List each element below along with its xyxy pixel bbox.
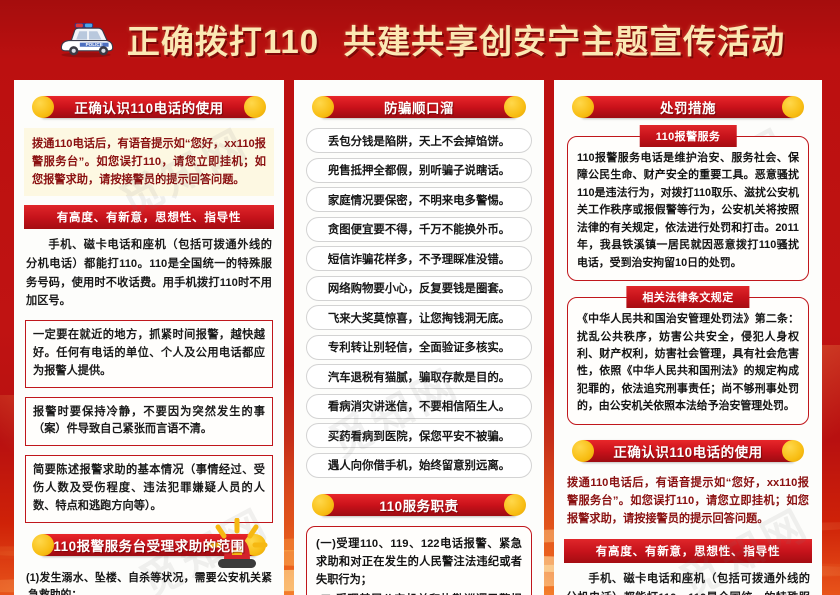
banner-dot-left: [32, 96, 54, 118]
tab-title: 110报警服务: [640, 125, 737, 147]
alarm-service-tabbox: 110报警服务 110报警服务电话是维护治安、服务社会、保障公民生命、财产安全的…: [567, 136, 809, 281]
list-item: 家庭情况要保密，不明来电多警惕。: [306, 187, 532, 212]
svg-text:POLICE: POLICE: [85, 42, 102, 47]
tabbox-body: 《中华人民共和国治安管理处罚法》第二条：扰乱公共秩序，妨害公共安全，侵犯人身权利…: [567, 297, 809, 425]
left-column: 觅知网 觅知网 正确认识110电话的使用 拨通110电话后，有语音提示如“您好，…: [14, 80, 284, 595]
poster-title-sub: 共建共享创安宁主题宣传活动: [343, 15, 785, 63]
list-item: 贪图便宜要不得，千万不能换外币。: [306, 217, 532, 242]
right-note-box: 拨通110电话后，有语音提示如“您好，xx110报警服务台”。如您误打110，请…: [564, 472, 812, 530]
duties-box: (一)受理110、119、122电话报警、紧急求助和对正在发生的人民警注法违纪或…: [306, 526, 532, 595]
middle-section1-title: 防骗顺口溜: [384, 97, 454, 117]
list-item: 网络购物要小心，反复要钱是圈套。: [306, 276, 532, 301]
tabbox-body: 110报警服务电话是维护治安、服务社会、保障公民生命、财产安全的重要工具。恶意骚…: [567, 136, 809, 281]
duty-item: (二)受理基层公安机关和执勤巡逻民警报告的紧急情况及各类案件、事故。: [316, 591, 522, 595]
right-section1-banner: 处罚措施: [566, 94, 810, 120]
right-subtitle-strip: 有高度、有新意，思想性、指导性: [564, 539, 812, 563]
banner-dot-left: [32, 534, 54, 556]
tabbox-text: 《中华人民共和国治安管理处罚法》第二条：扰乱公共秩序，妨害公共安全，侵犯人身权利…: [577, 311, 799, 416]
list-item: 专利转让别轻信，全面验证多核实。: [306, 335, 532, 360]
left-section2-title: 110报警服务台受理求助的范围: [53, 535, 244, 555]
banner-dot-left: [572, 96, 594, 118]
anti-fraud-rhyme-list: 丢包分钱是陷阱，天上不会掉馅饼。 兜售抵押全都假，别听骗子说瞎话。 家庭情况要保…: [304, 128, 534, 478]
list-item: 遇人向你借手机，始终留意别远离。: [306, 453, 532, 478]
list-item: 丢包分钱是陷阱，天上不会掉馅饼。: [306, 128, 532, 153]
banner-dot-right: [504, 494, 526, 516]
left-note-box: 拨通110电话后，有语音提示如“您好，xx110报警服务台”。如您误打110，请…: [24, 128, 274, 196]
legal-provisions-tabbox: 相关法律条文规定 《中华人民共和国治安管理处罚法》第二条：扰乱公共秩序，妨害公共…: [567, 297, 809, 425]
middle-section1-banner: 防骗顺口溜: [306, 94, 532, 120]
right-paragraph: 手机、磁卡电话和座机（包括可拨通外线的分机电话）都能打110。110是全国统一的…: [564, 570, 812, 595]
poster-canvas: POLICE 正确拨打110 共建共享创安宁主题宣传活动 觅知网 觅知网 正确认…: [0, 0, 840, 595]
list-item: 买药看病到医院，保您平安不被骗。: [306, 423, 532, 448]
left-emphasis-box-2: 报警时要保持冷静，不要因为突然发生的事（案）件导致自己紧张而言语不清。: [25, 397, 273, 447]
middle-section2-banner: 110服务职责: [306, 492, 532, 518]
banner-dot-right: [782, 96, 804, 118]
tab-title: 相关法律条文规定: [626, 286, 749, 308]
left-paragraph: 手机、磁卡电话和座机（包括可拨通外线的分机电话）都能打110。110是全国统一的…: [24, 236, 274, 310]
left-emphasis-box-1: 一定要在就近的地方，抓紧时间报警，越快越好。任何有电话的单位、个人及公用电话都应…: [25, 320, 273, 388]
left-section2-banner: 110报警服务台受理求助的范围: [26, 532, 272, 558]
list-item: 飞来大奖莫惊喜，让您掏钱洞无底。: [306, 305, 532, 330]
left-section1-title: 正确认识110电话的使用: [74, 97, 223, 117]
banner-dot-left: [572, 440, 594, 462]
content-columns: 觅知网 觅知网 正确认识110电话的使用 拨通110电话后，有语音提示如“您好，…: [0, 80, 840, 595]
banner-dot-right: [244, 96, 266, 118]
poster-header: POLICE 正确拨打110 共建共享创安宁主题宣传活动: [0, 0, 840, 78]
right-section1-title: 处罚措施: [660, 97, 716, 117]
banner-dot-left: [312, 96, 334, 118]
left-emphasis-box-3: 简要陈述报警求助的基本情况（事情经过、受伤人数及受伤程度、违法犯罪嫌疑人员的人数…: [25, 455, 273, 523]
middle-section2-title: 110服务职责: [379, 495, 458, 515]
list-item: 兜售抵押全都假，别听骗子说瞎话。: [306, 158, 532, 183]
left-subtitle-strip: 有高度、有新意，思想性、指导性: [24, 205, 274, 229]
banner-dot-left: [312, 494, 334, 516]
banner-dot-right: [782, 440, 804, 462]
right-section2-banner: 正确认识110电话的使用: [566, 438, 810, 464]
police-car-icon: POLICE: [55, 19, 117, 59]
left-section1-banner: 正确认识110电话的使用: [26, 94, 272, 120]
banner-dot-right: [504, 96, 526, 118]
list-item: 看病消灾讲迷信，不要相信陌生人。: [306, 394, 532, 419]
duty-item: (一)受理110、119、122电话报警、紧急求助和对正在发生的人民警注法违纪或…: [316, 535, 522, 589]
right-section2-title: 正确认识110电话的使用: [613, 441, 762, 461]
list-item: 汽车退税有猫腻，骗取存款是目的。: [306, 364, 532, 389]
right-column: 觅知网 觅知网 处罚措施 110报警服务 110报警服务电话是维护治安、服务社会…: [554, 80, 822, 595]
tabbox-text: 110报警服务电话是维护治安、服务社会、保障公民生命、财产安全的重要工具。恶意骚…: [577, 150, 799, 272]
poster-title-main: 正确拨打110: [127, 15, 319, 63]
middle-column: 觅知网 防骗顺口溜 丢包分钱是陷阱，天上不会掉馅饼。 兜售抵押全都假，别听骗子说…: [294, 80, 544, 595]
list-item: 短信诈骗花样多，不予理睬准没错。: [306, 246, 532, 271]
